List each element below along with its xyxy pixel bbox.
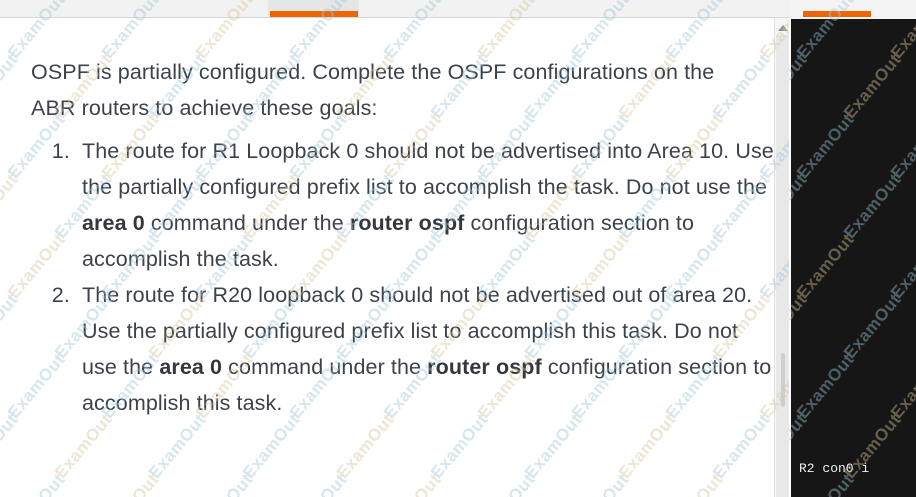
instructions-pane: OSPF is partially configured. Complete t… bbox=[0, 0, 789, 497]
goal-emphasis: area 0 bbox=[82, 211, 145, 235]
scrollbar-track[interactable] bbox=[776, 35, 789, 497]
goal-emphasis: area 0 bbox=[159, 355, 222, 379]
goal-emphasis: router ospf bbox=[350, 211, 465, 235]
console-line: R2 con0 i bbox=[799, 460, 869, 477]
tab-console-active-indicator[interactable] bbox=[803, 11, 871, 17]
right-tabstrip bbox=[789, 0, 916, 19]
goal-item: The route for R20 loopback 0 should not … bbox=[76, 277, 774, 421]
console-terminal[interactable]: R2 con0 i bbox=[791, 19, 916, 497]
scroll-up-button[interactable] bbox=[775, 21, 789, 35]
instructions-intro-paragraph: OSPF is partially configured. Complete t… bbox=[31, 54, 736, 126]
goal-item: The route for R1 Loopback 0 should not b… bbox=[76, 133, 774, 277]
instructions-scroll-area[interactable]: OSPF is partially configured. Complete t… bbox=[0, 18, 774, 497]
goals-list: The route for R1 Loopback 0 should not b… bbox=[31, 133, 774, 421]
left-tabstrip bbox=[0, 0, 789, 18]
application-window: OSPF is partially configured. Complete t… bbox=[0, 0, 916, 497]
goal-emphasis: router ospf bbox=[427, 355, 542, 379]
console-pane: R2 con0 i ExamOutExamOutExamOutExamOutEx… bbox=[789, 0, 916, 497]
goal-text: The route for R1 Loopback 0 should not b… bbox=[82, 139, 774, 199]
tab-instructions-label bbox=[540, 0, 624, 11]
vertical-scrollbar[interactable] bbox=[774, 18, 789, 497]
instructions-document: OSPF is partially configured. Complete t… bbox=[0, 18, 774, 421]
scrollbar-thumb[interactable] bbox=[781, 353, 785, 407]
goal-text: command under the bbox=[145, 211, 350, 235]
caret-up-icon bbox=[778, 25, 788, 31]
tab-instructions-active-indicator bbox=[270, 11, 358, 17]
tab-console-label bbox=[803, 0, 871, 11]
goal-text: command under the bbox=[222, 355, 427, 379]
